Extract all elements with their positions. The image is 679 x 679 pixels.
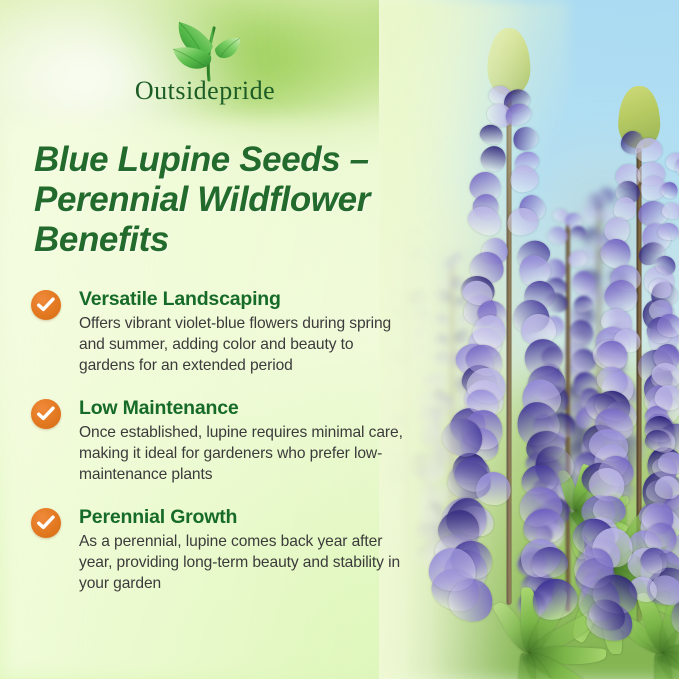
benefit-item: Low Maintenance Once established, lupine…: [31, 397, 413, 485]
benefit-title: Versatile Landscaping: [79, 288, 413, 311]
orange-check-circle-icon: [31, 508, 61, 538]
lupine-palmate-leaf-mid: [529, 645, 531, 647]
page-title: Blue Lupine Seeds – Perennial Wildflower…: [34, 140, 414, 260]
lupine-floret: [567, 318, 594, 345]
promotional-product-graphic: Outsidepride Blue Lupine Seeds – Perenni…: [0, 0, 679, 679]
orange-check-circle-icon: [31, 399, 61, 429]
benefits-list: Versatile Landscaping Offers vibrant vio…: [31, 288, 413, 615]
benefit-item: Perennial Growth As a perennial, lupine …: [31, 506, 413, 594]
lupine-palmate-leaf-small: [575, 505, 577, 507]
benefit-item: Versatile Landscaping Offers vibrant vio…: [31, 288, 413, 376]
lupine-floret: [573, 294, 594, 313]
page-title-line-2: Perennial Wildflower: [34, 180, 414, 220]
benefit-title: Perennial Growth: [79, 506, 413, 529]
page-title-line-1: Blue Lupine Seeds –: [34, 140, 414, 180]
orange-check-circle-icon: [31, 290, 61, 320]
benefit-description: Once established, lupine requires minima…: [79, 422, 413, 485]
benefit-description: As a perennial, lupine comes back year a…: [79, 531, 413, 594]
brand-logo[interactable]: Outsidepride: [0, 16, 410, 106]
benefit-description: Offers vibrant violet-blue flowers durin…: [79, 313, 413, 376]
benefit-title: Low Maintenance: [79, 397, 413, 420]
page-title-line-3: Benefits: [34, 220, 414, 260]
three-leaf-sprout-icon: [157, 16, 253, 82]
lupine-palmate-leaf-lower: [663, 645, 665, 647]
lupine-floret: [570, 269, 597, 296]
